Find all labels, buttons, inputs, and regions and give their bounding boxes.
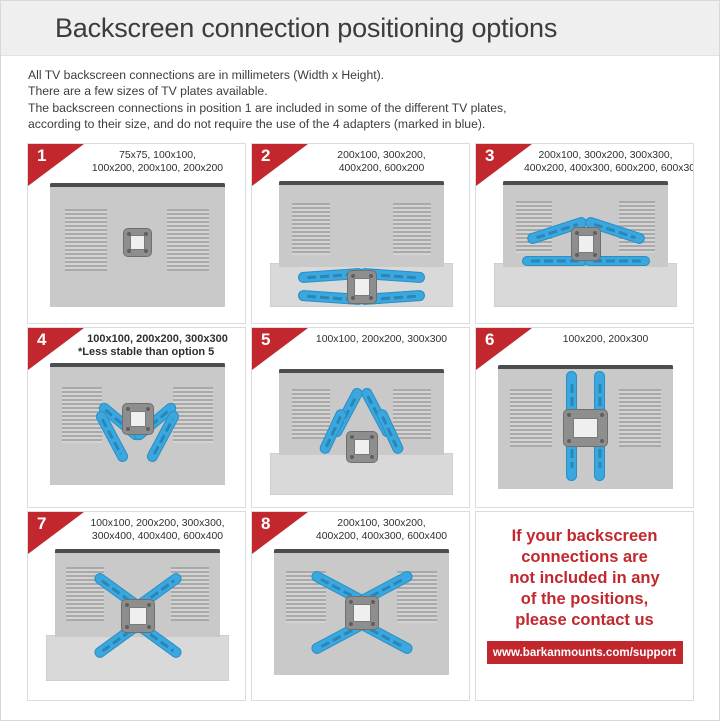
mount-plate-hole	[578, 235, 594, 253]
option-size-label: 100x100, 200x200, 300x300 *Less stable t…	[28, 328, 245, 359]
tv-vent-right	[393, 389, 431, 439]
size-line: 200x100, 300x200,	[300, 517, 463, 530]
option-size-label: 100x100, 200x200, 300x300	[252, 328, 469, 359]
intro-line-2: There are a few sizes of TV plates avail…	[28, 83, 719, 99]
size-line: 75x75, 100x100,	[76, 149, 239, 162]
option-size-label: 75x75, 100x100, 100x200, 200x100, 200x20…	[28, 144, 245, 175]
contact-panel: If your backscreen connections are not i…	[475, 511, 694, 701]
tv-illustration-3	[476, 177, 693, 315]
option-size-label: 200x100, 300x200, 400x200, 600x200	[252, 144, 469, 175]
option-card-8[interactable]: 8 200x100, 300x200, 400x200, 400x300, 60…	[251, 511, 470, 701]
tv-vent-left	[292, 389, 330, 439]
bolt-icon	[593, 253, 597, 257]
contact-message-line: not included in any	[509, 568, 659, 589]
bolt-icon	[146, 427, 150, 431]
tv-vent-left	[510, 389, 552, 447]
bolt-icon	[146, 407, 150, 411]
option-card-3[interactable]: 3 200x100, 300x200, 300x300, 400x200, 40…	[475, 143, 694, 324]
bolt-icon	[125, 603, 129, 607]
bolt-icon	[600, 413, 604, 417]
size-line: 400x200, 400x300, 600x200, 600x300	[524, 162, 687, 175]
mount-plate-hole	[354, 439, 371, 456]
bolt-icon	[349, 622, 353, 626]
bolt-icon	[349, 600, 353, 604]
intro-line-3: The backscreen connections in position 1…	[28, 100, 719, 116]
size-line: 100x100, 200x200, 300x300	[76, 333, 239, 346]
mount-plate-hole	[130, 235, 145, 250]
bolt-icon	[371, 622, 375, 626]
bolt-icon	[144, 232, 148, 236]
page-header: Backscreen connection positioning option…	[1, 1, 719, 56]
bolt-icon	[575, 253, 579, 257]
bolt-icon	[127, 232, 131, 236]
tv-base-panel	[494, 263, 677, 307]
bolt-icon	[593, 231, 597, 235]
tv-vent-left	[65, 209, 107, 271]
option-size-label: 200x100, 300x200, 300x300, 400x200, 400x…	[476, 144, 693, 175]
mount-plate-hole	[129, 607, 147, 625]
contact-message-line: please contact us	[509, 610, 659, 631]
mount-plate	[121, 599, 155, 633]
bolt-icon	[371, 600, 375, 604]
bolt-icon	[351, 296, 355, 300]
option-card-2[interactable]: 2 200x100, 300x200, 400x200, 600x200	[251, 143, 470, 324]
size-line: 100x200, 200x300	[524, 333, 687, 346]
bolt-icon	[147, 625, 151, 629]
size-line: 400x200, 600x200	[300, 162, 463, 175]
option-card-6[interactable]: 6 100x200, 200x300	[475, 327, 694, 508]
tv-illustration-5	[252, 361, 469, 499]
size-line: 300x400, 400x400, 600x400	[76, 530, 239, 543]
bolt-icon	[600, 439, 604, 443]
tv-illustration-6	[476, 361, 693, 499]
option-size-label: 100x100, 200x200, 300x300, 300x400, 400x…	[28, 512, 245, 543]
size-line: 400x200, 400x300, 600x400	[300, 530, 463, 543]
tv-vent-right	[167, 209, 209, 271]
mount-plate-hole	[130, 411, 147, 428]
bolt-icon	[350, 455, 354, 459]
contact-message-line: If your backscreen	[509, 526, 659, 547]
mount-plate	[346, 431, 378, 463]
option-card-1[interactable]: 1 75x75, 100x100, 100x200, 200x100, 200x…	[27, 143, 246, 324]
mount-plate	[563, 409, 608, 447]
bolt-icon	[370, 435, 374, 439]
page-root: { "header": { "title": "Backscreen conne…	[0, 0, 720, 721]
tv-illustration-7	[28, 545, 245, 691]
contact-message-line: connections are	[509, 547, 659, 568]
bolt-icon	[575, 231, 579, 235]
bolt-icon	[147, 603, 151, 607]
bolt-icon	[351, 274, 355, 278]
bolt-icon	[144, 249, 148, 253]
mount-plate-hole	[353, 604, 371, 622]
mount-plate-hole	[354, 278, 370, 296]
mount-plate-hole	[573, 418, 597, 438]
intro-line-4: according to their size, and do not requ…	[28, 116, 719, 132]
size-line: 100x200, 200x100, 200x200	[76, 162, 239, 175]
page-title: Backscreen connection positioning option…	[55, 13, 557, 44]
mount-plate	[345, 596, 379, 630]
option-card-7[interactable]: 7 100x100, 200x200, 300x300, 300x400, 40…	[27, 511, 246, 701]
bolt-icon	[567, 439, 571, 443]
bolt-icon	[567, 413, 571, 417]
bolt-icon	[125, 625, 129, 629]
bolt-icon	[369, 274, 373, 278]
tv-illustration-8	[252, 545, 469, 691]
mount-plate	[571, 227, 601, 261]
size-line: 100x100, 200x200, 300x300	[300, 333, 463, 346]
bolt-icon	[370, 455, 374, 459]
contact-message: If your backscreen connections are not i…	[509, 526, 659, 631]
option-card-5[interactable]: 5 100x100, 200x200, 300x300	[251, 327, 470, 508]
tv-vent-right	[619, 389, 661, 447]
mount-plate	[123, 228, 152, 257]
tv-illustration-1	[28, 177, 245, 315]
option-stability-note: *Less stable than option 5	[76, 346, 239, 359]
mount-plate	[122, 403, 154, 435]
option-card-4[interactable]: 4 100x100, 200x200, 300x300 *Less stable…	[27, 327, 246, 508]
intro-line-1: All TV backscreen connections are in mil…	[28, 67, 719, 83]
bolt-icon	[126, 427, 130, 431]
size-line: 200x100, 300x200, 300x300,	[524, 149, 687, 162]
option-size-label: 200x100, 300x200, 400x200, 400x300, 600x…	[252, 512, 469, 543]
bolt-icon	[127, 249, 131, 253]
bolt-icon	[126, 407, 130, 411]
tv-illustration-4	[28, 361, 245, 499]
size-line: 100x100, 200x200, 300x300,	[76, 517, 239, 530]
contact-message-line: of the positions,	[509, 589, 659, 610]
options-grid: 1 75x75, 100x100, 100x200, 200x100, 200x…	[27, 143, 695, 701]
size-line: 200x100, 300x200,	[300, 149, 463, 162]
tv-vent-right	[393, 203, 431, 255]
bolt-icon	[350, 435, 354, 439]
bolt-icon	[369, 296, 373, 300]
tv-illustration-2	[252, 177, 469, 315]
intro-paragraph: All TV backscreen connections are in mil…	[1, 56, 719, 141]
tv-vent-left	[292, 203, 330, 255]
option-size-label: 100x200, 200x300	[476, 328, 693, 359]
tv-base-panel	[46, 635, 229, 681]
mount-plate	[347, 270, 377, 304]
support-url-link[interactable]: www.barkanmounts.com/support	[487, 641, 683, 664]
